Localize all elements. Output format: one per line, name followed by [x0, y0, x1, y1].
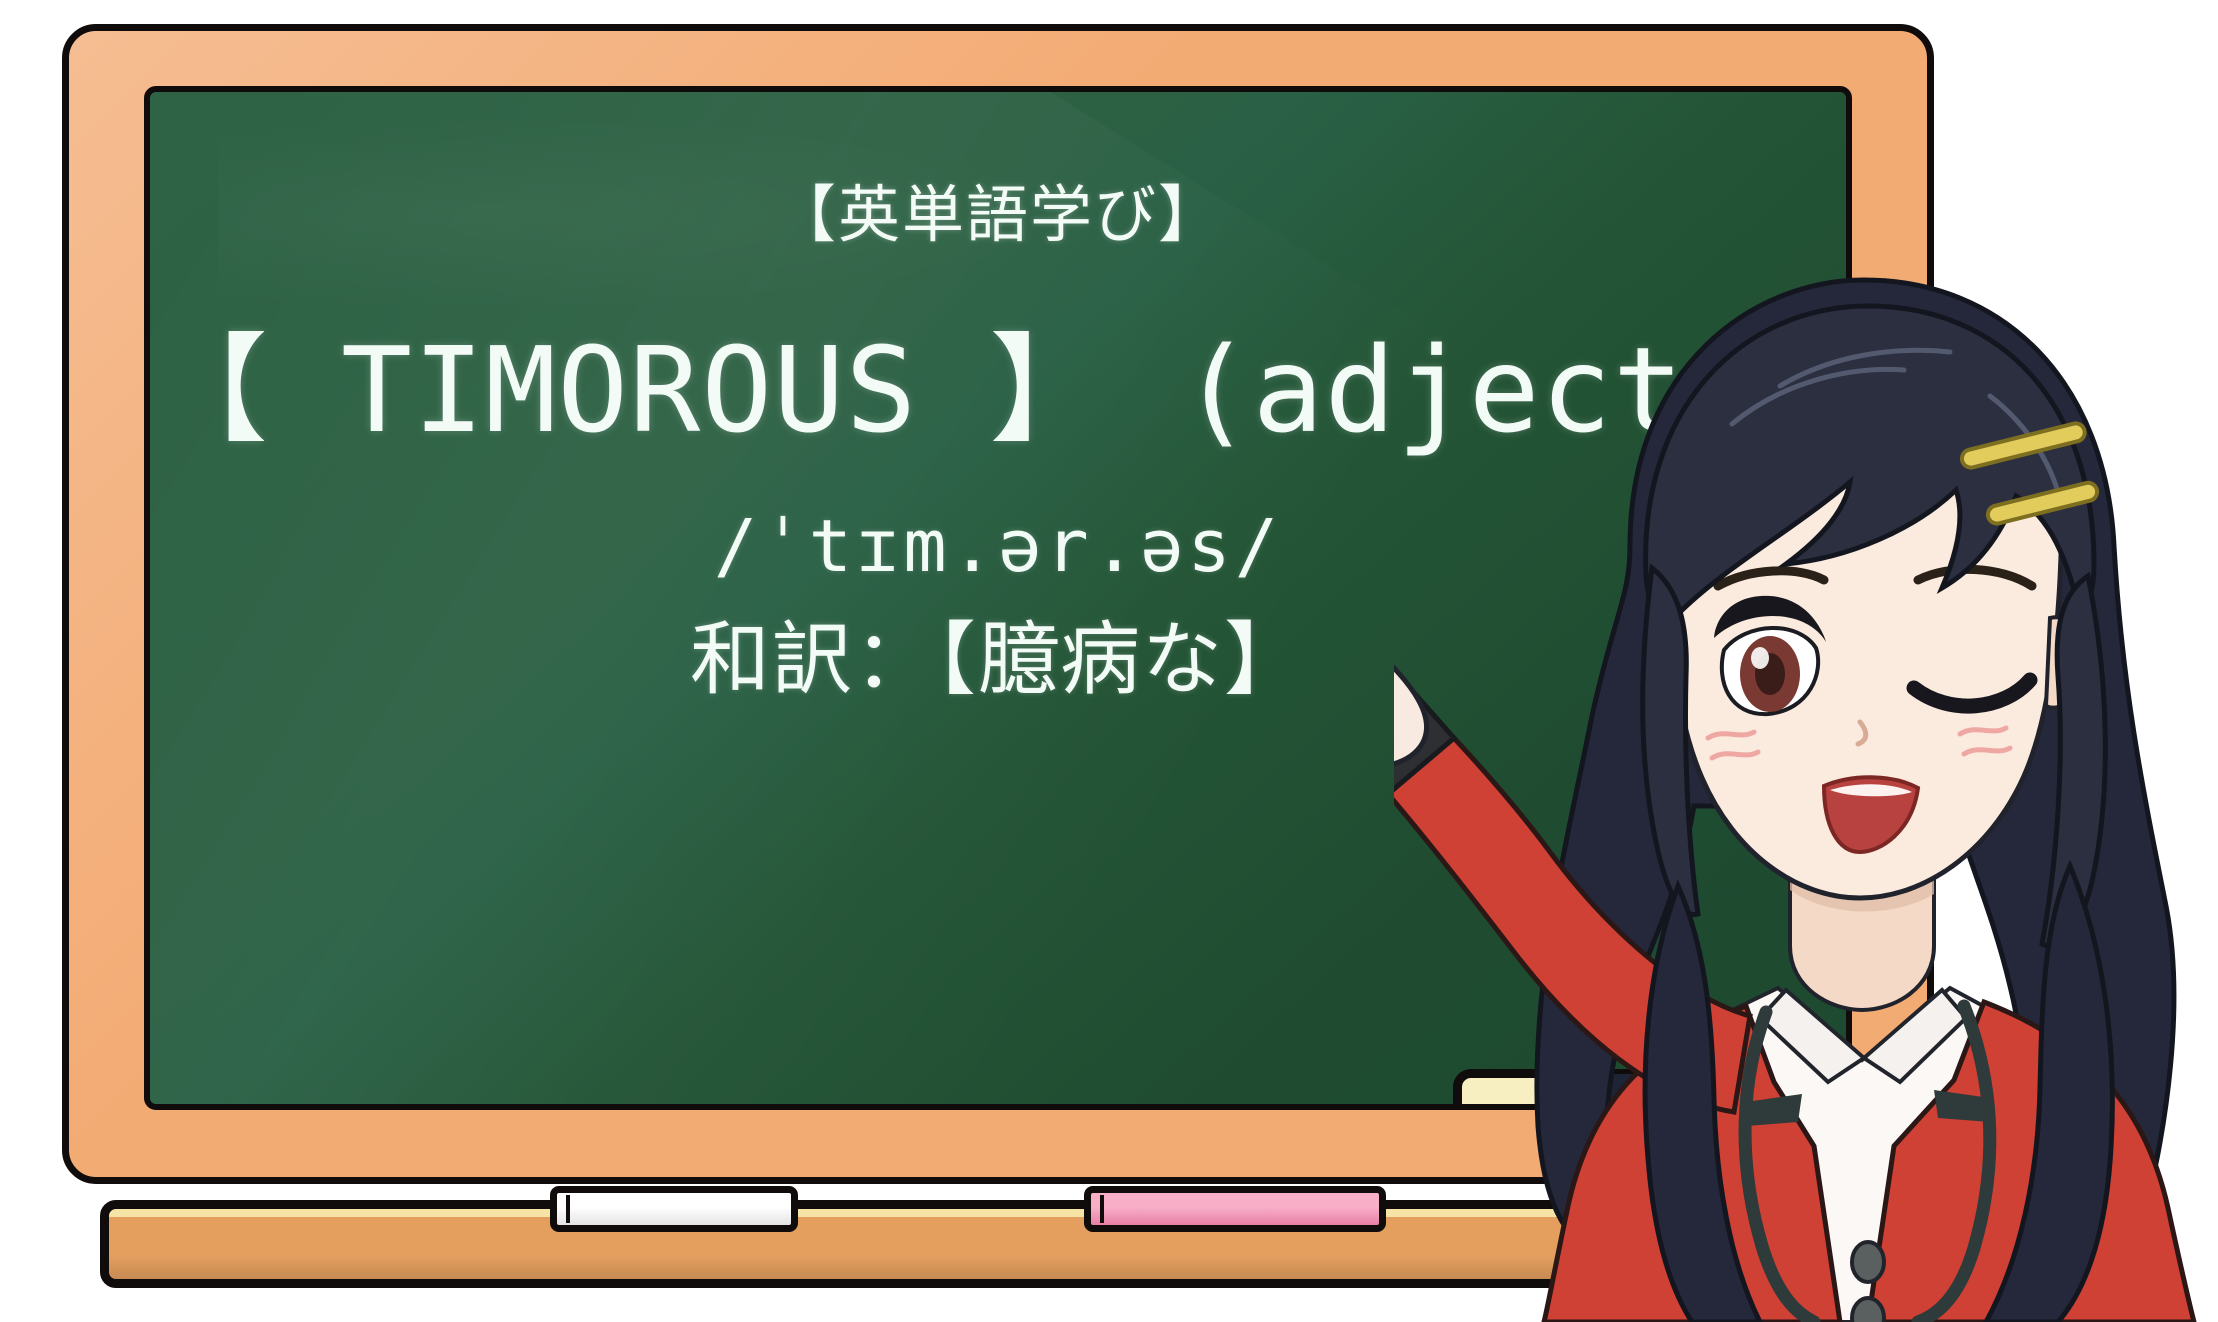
- pink-chalk-end: [1093, 1195, 1104, 1223]
- pink-chalk[interactable]: [1084, 1186, 1386, 1232]
- anime-teacher-character: [1394, 246, 2218, 1322]
- white-chalk-end: [559, 1195, 570, 1223]
- blazer-button-bottom: [1852, 1298, 1884, 1322]
- blazer-button-top: [1852, 1242, 1884, 1282]
- white-chalk[interactable]: [550, 1186, 798, 1232]
- screenshot-canvas: 【英単語学び】 【 TIMOROUS 】 (adjective) /ˈtɪm.ə…: [0, 0, 2218, 1322]
- lesson-title: 【英単語学び】: [150, 184, 1846, 246]
